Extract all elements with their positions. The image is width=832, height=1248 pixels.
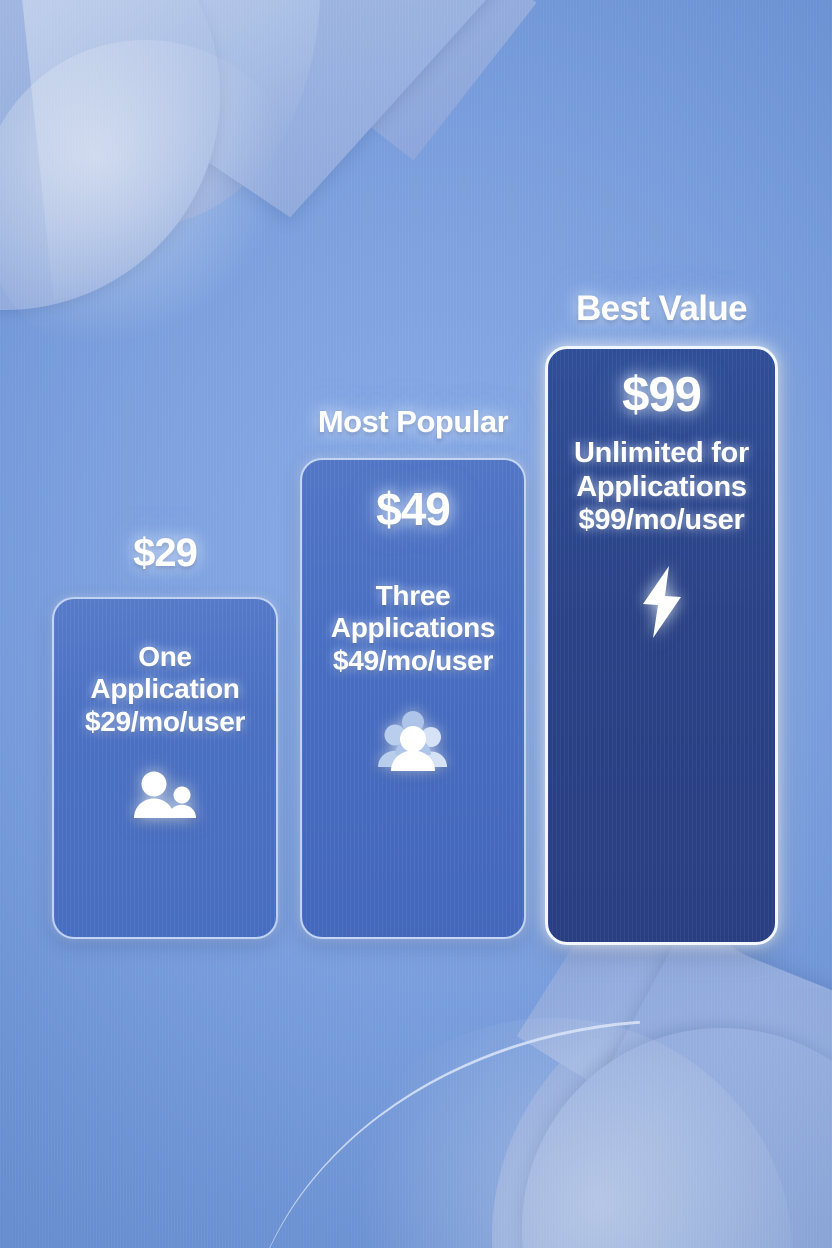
two-people-icon: [132, 770, 198, 824]
plan-name-line2-basic: Application: [90, 673, 239, 704]
badge-most-popular: Most Popular: [300, 404, 526, 440]
lightning-bolt-icon: [633, 564, 691, 640]
pricing-card-basic[interactable]: One Application $29/mo/user: [52, 597, 278, 939]
plan-name-line2-best: Applications: [576, 471, 746, 503]
plan-rate-popular: $49/mo/user: [331, 645, 495, 677]
plan-description-best: Unlimited for Applications $99/mo/user: [574, 437, 749, 538]
three-people-icon: [375, 711, 451, 773]
plan-description-basic: One Application $29/mo/user: [85, 641, 245, 738]
plan-name-line1-best: Unlimited for: [574, 437, 749, 469]
price-best: $99: [622, 367, 701, 423]
price-popular: $49: [376, 482, 450, 536]
plan-rate-best: $99/mo/user: [574, 504, 749, 538]
plan-name-line2-popular: Applications: [331, 612, 495, 643]
plan-rate-basic: $29/mo/user: [85, 706, 245, 738]
pricing-poster: $29 Most Popular Best Value One Applicat…: [0, 0, 832, 1248]
price-label-basic: $29: [52, 531, 278, 576]
plan-name-line1-basic: One: [138, 641, 192, 672]
plan-description-popular: Three Applications $49/mo/user: [331, 580, 495, 677]
badge-best-value: Best Value: [545, 289, 778, 329]
pricing-card-best-value[interactable]: $99 Unlimited for Applications $99/mo/us…: [545, 346, 778, 945]
plan-name-line1-popular: Three: [376, 580, 451, 611]
pricing-card-popular[interactable]: $49 Three Applications $49/mo/user: [300, 458, 526, 939]
